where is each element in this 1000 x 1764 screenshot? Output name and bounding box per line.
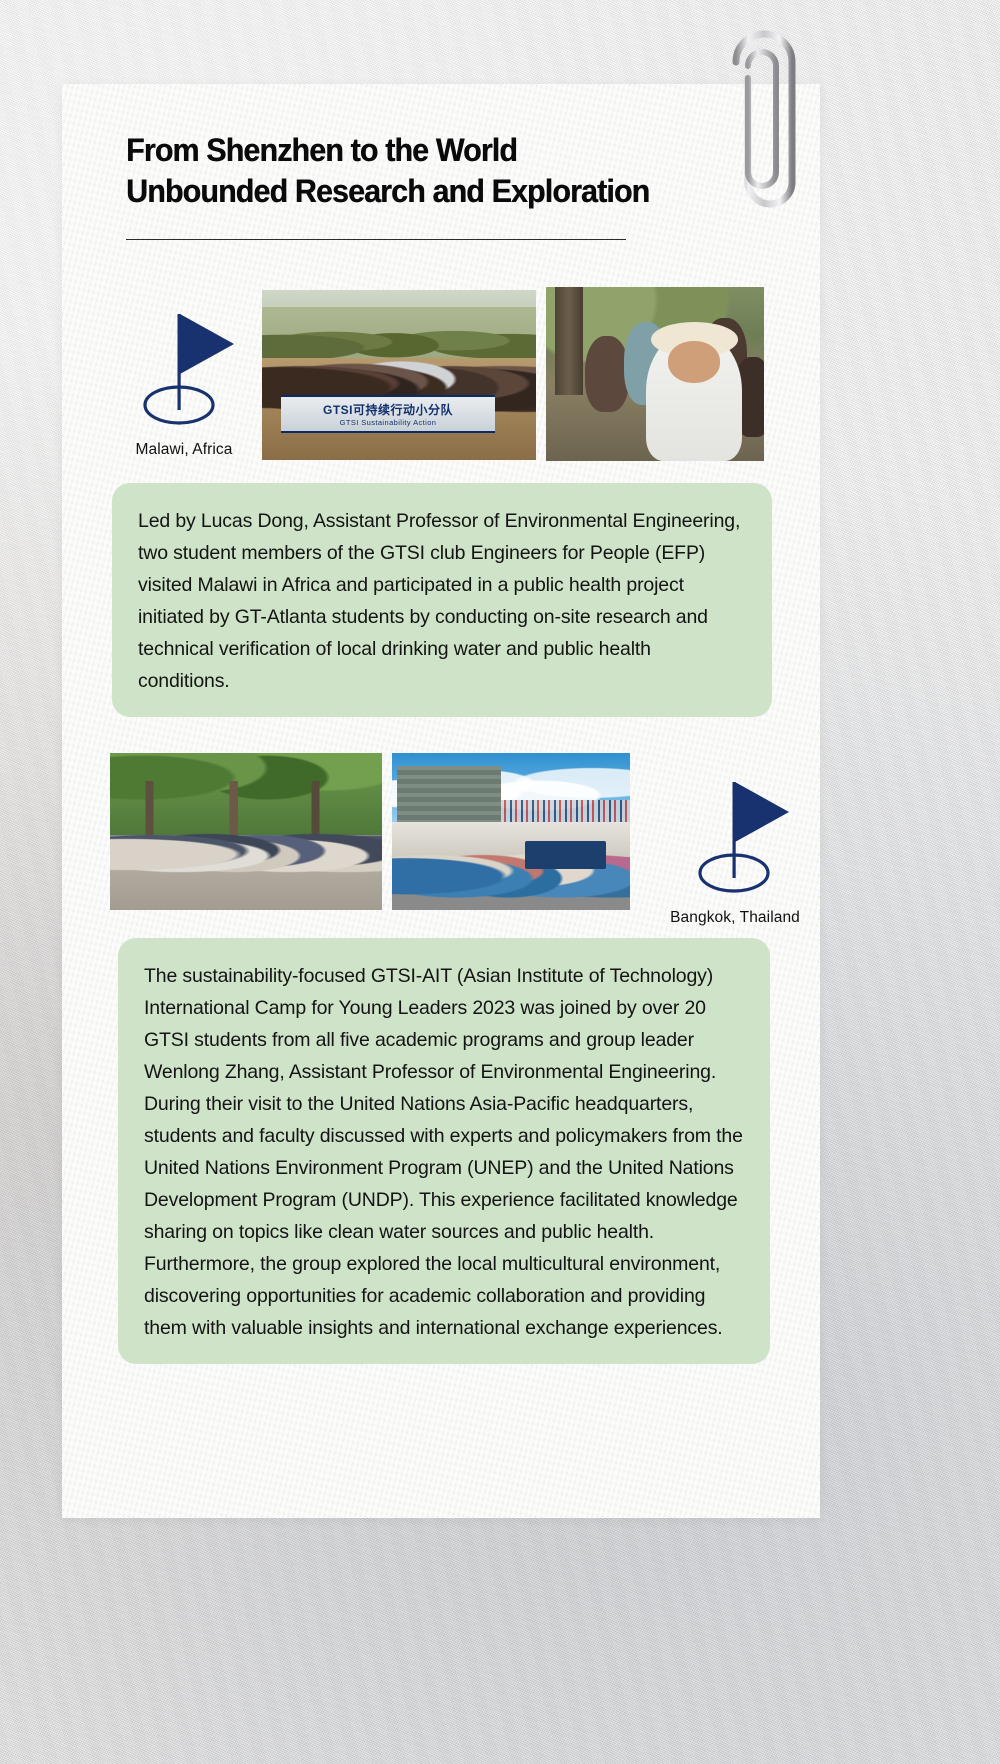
body-text-bangkok: The sustainability-focused GTSI-AIT (Asi… <box>144 960 744 1344</box>
page-title-line-1: From Shenzhen to the World <box>126 130 715 171</box>
text-block-bangkok: The sustainability-focused GTSI-AIT (Asi… <box>118 938 770 1364</box>
paperclip-icon <box>722 22 806 220</box>
location-marker-bangkok: Bangkok, Thailand <box>640 760 830 927</box>
photo-bangkok-park <box>110 753 382 910</box>
location-marker-malawi: Malawi, Africa <box>106 292 262 459</box>
location-label-bangkok: Bangkok, Thailand <box>640 909 830 927</box>
photo-malawi-selfie <box>546 287 764 461</box>
title-divider <box>126 239 626 240</box>
location-label-malawi: Malawi, Africa <box>106 441 262 459</box>
banner-text-secondary: GTSI Sustainability Action <box>340 418 437 427</box>
page-title: From Shenzhen to the World Unbounded Res… <box>126 130 746 212</box>
photo-banner: GTSI可持续行动小分队 GTSI Sustainability Action <box>281 395 495 432</box>
flag-marker-icon <box>640 760 830 900</box>
banner-text-primary: GTSI可持续行动小分队 <box>323 401 453 418</box>
photo-tree-trunk <box>555 287 583 395</box>
body-text-malawi: Led by Lucas Dong, Assistant Professor o… <box>138 505 746 697</box>
article-card: From Shenzhen to the World Unbounded Res… <box>62 84 820 1518</box>
flag-marker-icon <box>106 292 262 432</box>
photo-person <box>585 336 629 413</box>
photo-bangkok-un <box>392 753 630 910</box>
photo-malawi-group: GTSI可持续行动小分队 GTSI Sustainability Action <box>262 290 536 460</box>
photo-crowd <box>110 819 382 890</box>
photo-face <box>668 341 720 383</box>
photo-gt-banner <box>525 841 606 869</box>
text-block-malawi: Led by Lucas Dong, Assistant Professor o… <box>112 483 772 717</box>
page-title-line-2: Unbounded Research and Exploration <box>126 171 715 212</box>
